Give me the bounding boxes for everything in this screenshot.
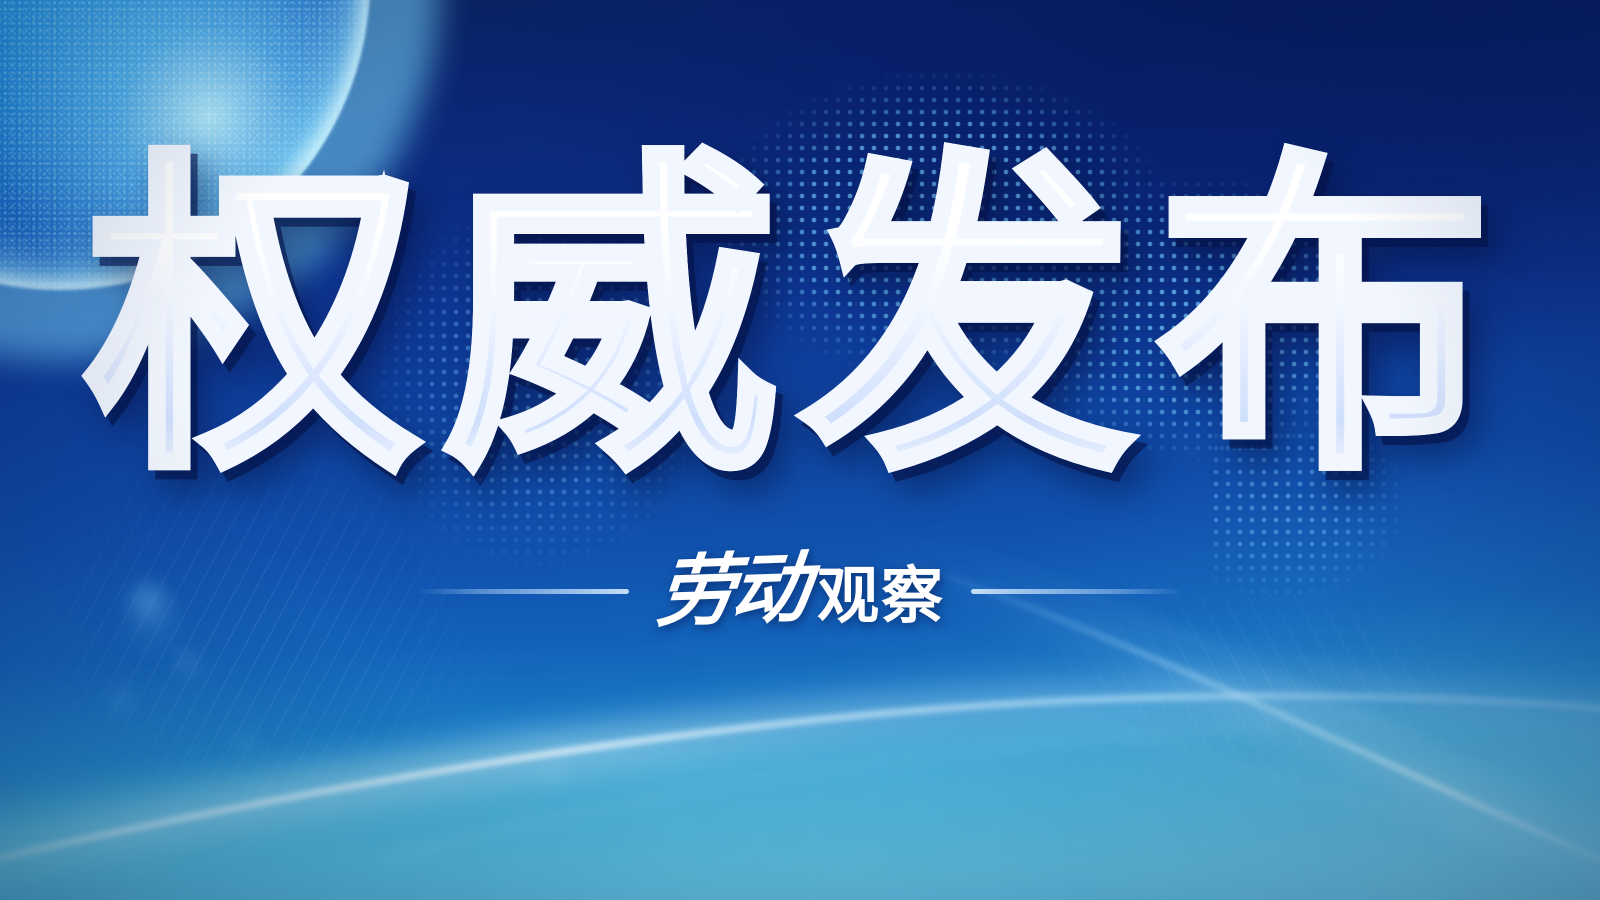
divider-right: [971, 589, 1183, 594]
brand-row: 劳动 观察: [0, 548, 1600, 634]
divider-left: [417, 589, 629, 594]
brand-logo: 劳动 观察: [655, 548, 945, 634]
title-block: 权威发布 劳动 观察: [0, 0, 1600, 900]
brand-regular-text: 观察: [817, 561, 945, 631]
page-title: 权威发布: [78, 140, 1522, 500]
poster-canvas: 权威发布 劳动 观察: [0, 0, 1600, 900]
brand-script-text: 劳动: [653, 545, 809, 636]
